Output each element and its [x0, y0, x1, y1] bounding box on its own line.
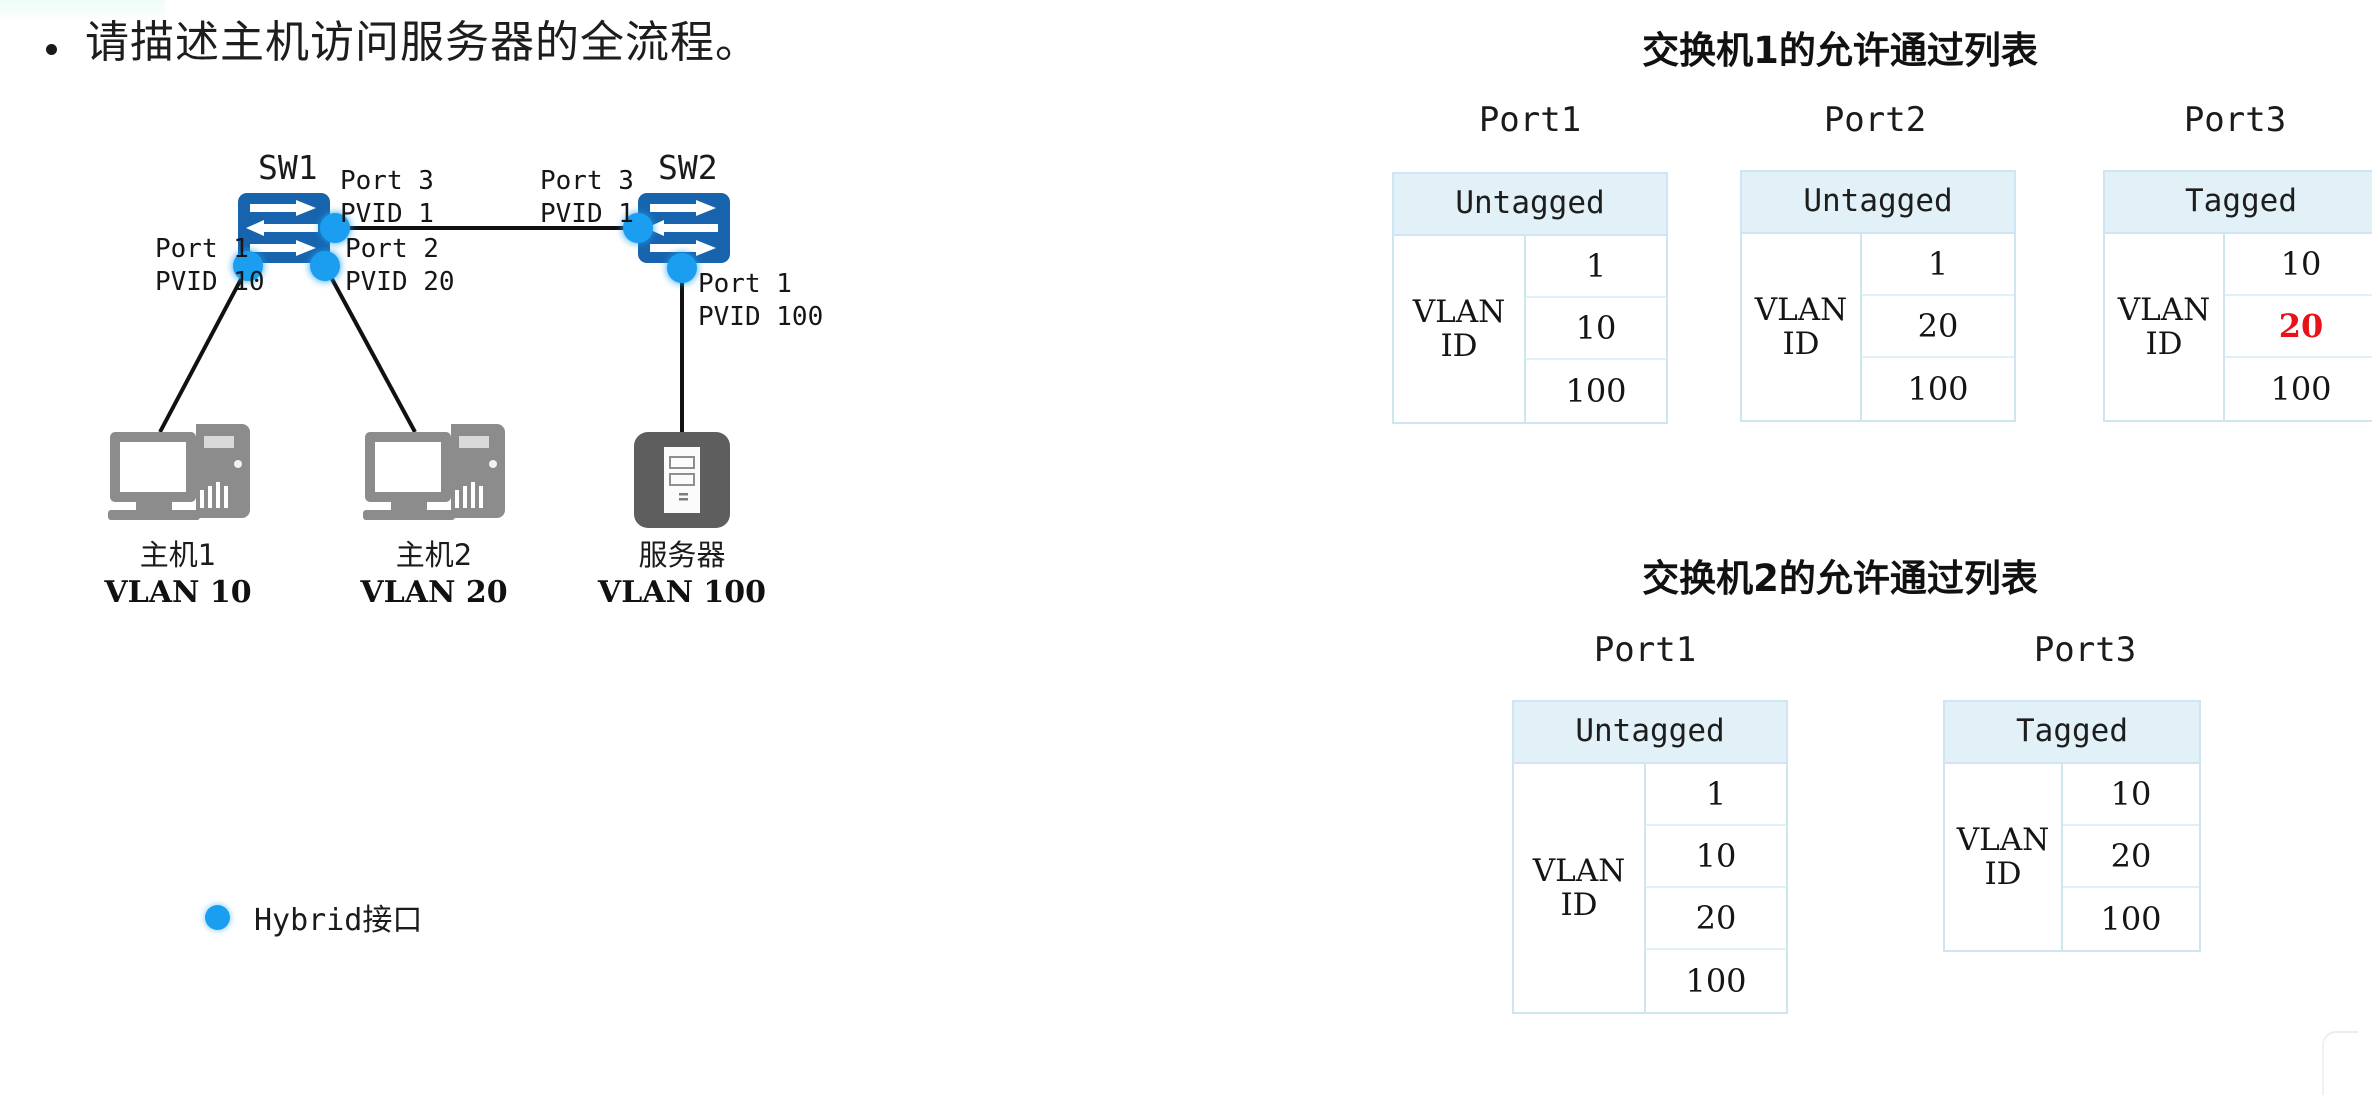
- vlan-id-label: VLAN ID: [1945, 764, 2063, 950]
- endpoint-vlan-host2: VLAN 20: [334, 575, 534, 610]
- vlan-value: 1: [1646, 764, 1786, 826]
- port-label-line1: Port 1: [698, 268, 823, 301]
- vlan-value: 100: [1862, 358, 2014, 420]
- port-label-line2: PVID 100: [698, 301, 823, 334]
- legend-label: Hybrid接口: [254, 895, 422, 939]
- port-label-line1: Port 3: [540, 165, 630, 198]
- mode-header: Untagged: [1742, 172, 2014, 234]
- vlan-value: 10: [1526, 298, 1666, 360]
- endpoint-name-host2: 主机2: [334, 532, 534, 574]
- vlan-value: 1: [1526, 236, 1666, 298]
- vlan-value: 1: [1862, 234, 2014, 296]
- server-icon: [634, 432, 730, 528]
- vlan-id-label: VLAN ID: [2105, 234, 2225, 420]
- port-label-sw2-port3: Port 3 PVID 1: [540, 165, 630, 232]
- hybrid-port-dot-icon: [205, 905, 230, 930]
- vlan-value: 20: [1862, 296, 2014, 358]
- vlan-value: 20: [1646, 888, 1786, 950]
- vlan-value: 10: [1646, 826, 1786, 888]
- vlan-value: 100: [1526, 360, 1666, 422]
- port-label-line2: PVID 1: [540, 198, 630, 231]
- switch2-port3-caption: Port3: [1945, 630, 2225, 670]
- port-label-sw1-port1: Port 1 PVID 10: [155, 233, 243, 300]
- switch1-port2-caption: Port2: [1735, 100, 2015, 140]
- port-label-line2: PVID 10: [155, 266, 243, 299]
- port-label-line1: Port 1: [155, 233, 243, 266]
- mode-header: Untagged: [1514, 702, 1786, 764]
- endpoint-vlan-host1: VLAN 10: [78, 575, 278, 610]
- vlan-id-label: VLAN ID: [1742, 234, 1862, 420]
- bullet-icon: [46, 44, 57, 55]
- mode-header: Untagged: [1394, 174, 1666, 236]
- vlan-value: 100: [2063, 888, 2199, 950]
- switch2-title: 交换机2的允许通过列表: [1540, 548, 2140, 602]
- mode-header: Tagged: [2105, 172, 2372, 234]
- pc-icon-host1: [108, 424, 250, 520]
- question-text: 请描述主机访问服务器的全流程。: [85, 18, 760, 69]
- vlan-value: 10: [2225, 234, 2372, 296]
- switch1-port3-table: Tagged VLAN ID 10 20 100: [2103, 170, 2372, 422]
- endpoint-name-host1: 主机1: [78, 532, 278, 574]
- endpoint-name-server: 服务器: [582, 532, 782, 574]
- switch1-port3-caption: Port3: [2095, 100, 2372, 140]
- port-label-sw1-port3: Port 3 PVID 1: [340, 165, 434, 232]
- vlan-value: 100: [2225, 358, 2372, 420]
- port-label-line2: PVID 1: [340, 198, 434, 231]
- vlan-id-label: VLAN ID: [1514, 764, 1646, 1012]
- switch1-title: 交换机1的允许通过列表: [1540, 20, 2140, 74]
- port-label-sw1-port2: Port 2 PVID 20: [345, 233, 455, 300]
- port-label-line2: PVID 20: [345, 266, 455, 299]
- port-label-sw2-port1: Port 1 PVID 100: [698, 268, 823, 335]
- port-label-line1: Port 2: [345, 233, 455, 266]
- mode-header: Tagged: [1945, 702, 2199, 764]
- port-label-line1: Port 3: [340, 165, 434, 198]
- vlan-value: 100: [1646, 950, 1786, 1012]
- slide-root: 请描述主机访问服务器的全流程。: [0, 0, 2372, 1095]
- switch-label-sw1: SW1: [258, 148, 318, 187]
- switch1-port1-caption: Port1: [1390, 100, 1670, 140]
- network-diagram: SW1 SW2 Port 3 PVID 1 Port 1 PVID 10 Por…: [0, 120, 1300, 1050]
- switch-label-sw2: SW2: [658, 148, 718, 187]
- legend: Hybrid接口: [205, 895, 422, 939]
- vlan-value-highlighted: 20: [2225, 296, 2372, 358]
- vlan-value: 10: [2063, 764, 2199, 826]
- switch2-port3-table: Tagged VLAN ID 10 20 100: [1943, 700, 2201, 952]
- question-line: 请描述主机访问服务器的全流程。: [46, 18, 760, 69]
- vlan-value: 20: [2063, 826, 2199, 888]
- switch1-port1-table: Untagged VLAN ID 1 10 100: [1392, 172, 1668, 424]
- switch2-port1-caption: Port1: [1505, 630, 1785, 670]
- endpoint-vlan-server: VLAN 100: [582, 575, 782, 610]
- switch2-port1-table: Untagged VLAN ID 1 10 20 100: [1512, 700, 1788, 1014]
- pc-icon-host2: [363, 424, 505, 520]
- bottom-right-artifact: [2322, 1031, 2358, 1095]
- switch1-port2-table: Untagged VLAN ID 1 20 100: [1740, 170, 2016, 422]
- vlan-id-label: VLAN ID: [1394, 236, 1526, 422]
